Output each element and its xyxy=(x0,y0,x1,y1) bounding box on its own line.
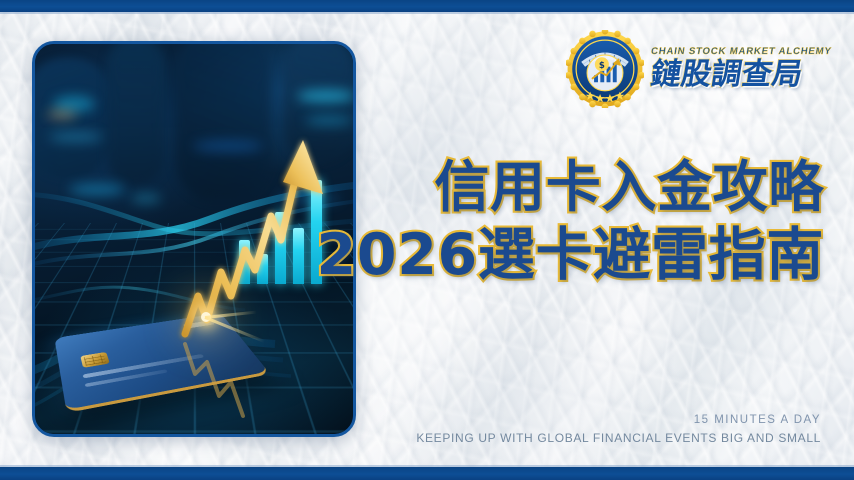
brand-logo: $ CHAIN STOCK MARKET ALCHEMY 鏈股調查局 xyxy=(566,30,832,108)
brand-tagline-en: CHAIN STOCK MARKET ALCHEMY xyxy=(651,47,833,57)
light-ray xyxy=(205,316,207,318)
tagline-line-1: 15 MINUTES A DAY xyxy=(416,412,821,429)
hero-image-card xyxy=(32,41,356,437)
bottom-blue-band xyxy=(0,467,854,480)
poster-canvas: $ CHAIN STOCK MARKET ALCHEMY 鏈股調查局 信用卡入金… xyxy=(0,0,854,480)
headline-line-1: 信用卡入金攻略 xyxy=(317,156,824,219)
gold-rising-arrow-icon xyxy=(35,44,353,434)
svg-text:$: $ xyxy=(599,61,605,71)
top-blue-band xyxy=(0,0,854,12)
tagline-line-2: KEEPING UP WITH GLOBAL FINANCIAL EVENTS … xyxy=(416,430,821,447)
footer-tagline: 15 MINUTES A DAY KEEPING UP WITH GLOBAL … xyxy=(416,412,821,447)
headline-line-2: 2026選卡避雷指南 xyxy=(317,223,824,288)
emblem-badge-icon: $ xyxy=(566,30,644,108)
hero-image-inner xyxy=(35,44,353,434)
page-title: 信用卡入金攻略 2026選卡避雷指南 xyxy=(317,156,824,288)
brand-text-block: CHAIN STOCK MARKET ALCHEMY 鏈股調查局 xyxy=(651,47,832,90)
brand-name-cn: 鏈股調查局 xyxy=(649,59,806,91)
